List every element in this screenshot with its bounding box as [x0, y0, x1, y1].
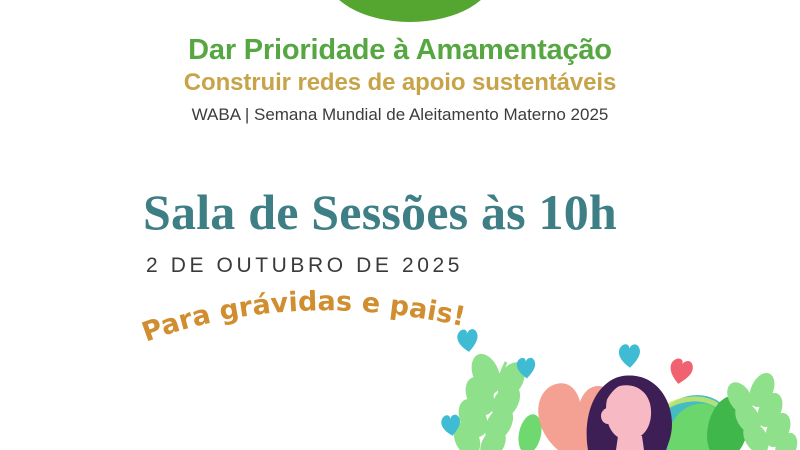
poster-canvas: Dar Prioridade à Amamentação Construir r…	[0, 0, 800, 450]
header-block: Dar Prioridade à Amamentação Construir r…	[0, 34, 800, 125]
campaign-subtitle: Construir redes de apoio sustentáveis	[0, 69, 800, 97]
heart-teal-3-icon	[618, 343, 641, 368]
event-venue-time: Sala de Sessões às 10h	[143, 186, 617, 239]
heart-coral-icon	[668, 357, 694, 386]
campaign-attribution: WABA | Semana Mundial de Aleitamento Mat…	[0, 105, 800, 125]
illustration-group	[410, 318, 800, 450]
heart-teal-1-icon	[456, 328, 479, 354]
event-date: 2 DE OUTUBRO DE 2025	[146, 254, 463, 278]
campaign-title: Dar Prioridade à Amamentação	[0, 34, 800, 66]
waba-logo-disc-icon	[325, 0, 495, 22]
